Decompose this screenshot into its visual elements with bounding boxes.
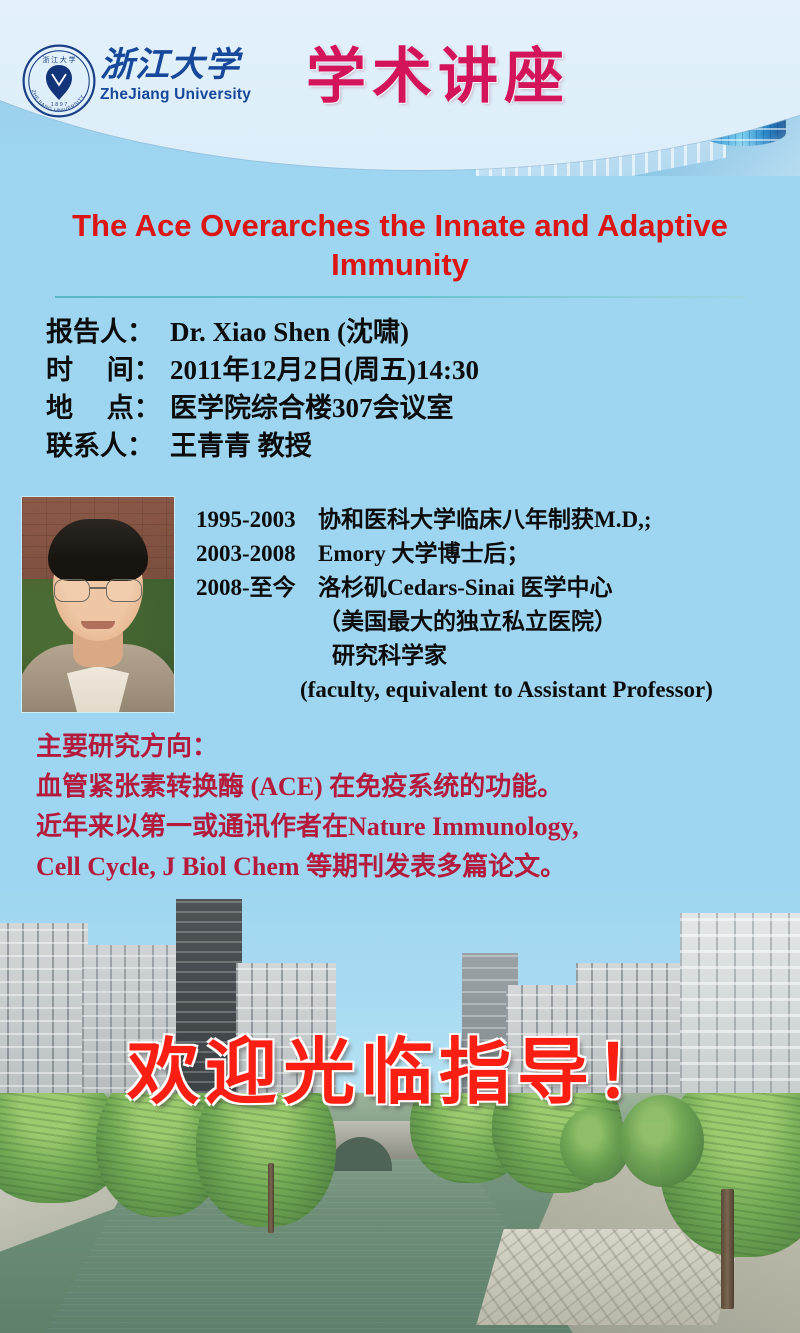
cv-extra-line: 研究科学家 <box>196 639 796 673</box>
event-details: 报告人： Dr. Xiao Shen (沈啸) 时 间： 2011年12月2日(… <box>46 310 746 462</box>
detail-row-contact: 联系人： 王青青 教授 <box>46 424 746 462</box>
tree-trunk <box>721 1189 734 1309</box>
portrait-glasses-icon <box>52 579 144 601</box>
speaker-cv: 1995-2003 协和医科大学临床八年制获M.D,; 2003-2008 Em… <box>196 503 796 707</box>
cv-row: 1995-2003 协和医科大学临床八年制获M.D,; <box>196 503 796 537</box>
university-name-cn: 浙江大学 <box>100 48 270 84</box>
speaker-portrait-photo <box>22 497 174 712</box>
glasses-left-lens <box>54 579 90 602</box>
cv-extra-line: (faculty, equivalent to Assistant Profes… <box>196 673 796 707</box>
tree-trunk <box>268 1163 274 1233</box>
research-line: Cell Cycle, J Biol Chem 等期刊发表多篇论文。 <box>36 847 766 887</box>
cv-text: Emory 大学博士后； <box>318 537 796 571</box>
cv-row: 2003-2008 Emory 大学博士后； <box>196 537 796 571</box>
cv-year: 2008-至今 <box>196 571 318 605</box>
welcome-message: 欢迎光临指导！ <box>0 1013 800 1118</box>
portrait-hair <box>48 519 148 581</box>
detail-row-speaker: 报告人： Dr. Xiao Shen (沈啸) <box>46 310 746 348</box>
detail-row-location: 地 点： 医学院综合楼307会议室 <box>46 386 746 424</box>
cv-row: 2008-至今 洛杉矶Cedars-Sinai 医学中心 <box>196 571 796 605</box>
cv-text: 洛杉矶Cedars-Sinai 医学中心 <box>318 571 796 605</box>
cv-year: 1995-2003 <box>196 503 318 537</box>
cv-extra-line: （美国最大的独立私立医院） <box>196 605 796 639</box>
seminar-poster: 浙 江 大 学 1 8 9 7 ZHEJIANG UNIVERSITY 浙江大学… <box>0 0 800 1333</box>
poster-header: 浙 江 大 学 1 8 9 7 ZHEJIANG UNIVERSITY 浙江大学… <box>0 0 800 176</box>
zhejiang-university-seal-icon: 浙 江 大 学 1 8 9 7 ZHEJIANG UNIVERSITY <box>22 44 96 118</box>
glasses-bridge <box>90 587 106 589</box>
banner-title: 学术讲座 <box>306 28 570 115</box>
svg-text:浙 江 大 学: 浙 江 大 学 <box>42 55 75 64</box>
research-directions: 主要研究方向： 血管紧张素转换酶 (ACE) 在免疫系统的功能。 近年来以第一或… <box>36 727 766 887</box>
research-line: 血管紧张素转换酶 (ACE) 在免疫系统的功能。 <box>36 767 766 807</box>
river-scene <box>0 1093 800 1333</box>
page-title: The Ace Overarches the Innate and Adapti… <box>60 206 740 284</box>
detail-value-speaker: Dr. Xiao Shen (沈啸) <box>170 310 746 349</box>
detail-label-contact: 联系人： <box>46 424 170 463</box>
portrait-shirt <box>67 666 129 712</box>
detail-value-contact: 王青青 教授 <box>170 424 746 463</box>
detail-label-location: 地 点： <box>46 386 170 425</box>
research-line: 近年来以第一或通讯作者在Nature Immunology, <box>36 807 766 847</box>
detail-label-time: 时 间： <box>46 348 170 387</box>
title-divider <box>55 296 745 298</box>
detail-row-time: 时 间： 2011年12月2日(周五)14:30 <box>46 348 746 386</box>
glasses-right-lens <box>106 579 142 602</box>
portrait-mouth <box>81 621 115 629</box>
cv-text: 协和医科大学临床八年制获M.D,; <box>318 503 796 537</box>
detail-value-time: 2011年12月2日(周五)14:30 <box>170 348 746 387</box>
university-wordmark: 浙江大学 ZheJiang University <box>100 48 270 120</box>
detail-label-speaker: 报告人： <box>46 310 170 349</box>
research-heading: 主要研究方向： <box>36 727 766 767</box>
university-name-en: ZheJiang University <box>100 86 270 104</box>
svg-text:1 8 9 7: 1 8 9 7 <box>51 102 68 108</box>
detail-value-location: 医学院综合楼307会议室 <box>170 386 746 425</box>
cv-year: 2003-2008 <box>196 537 318 571</box>
